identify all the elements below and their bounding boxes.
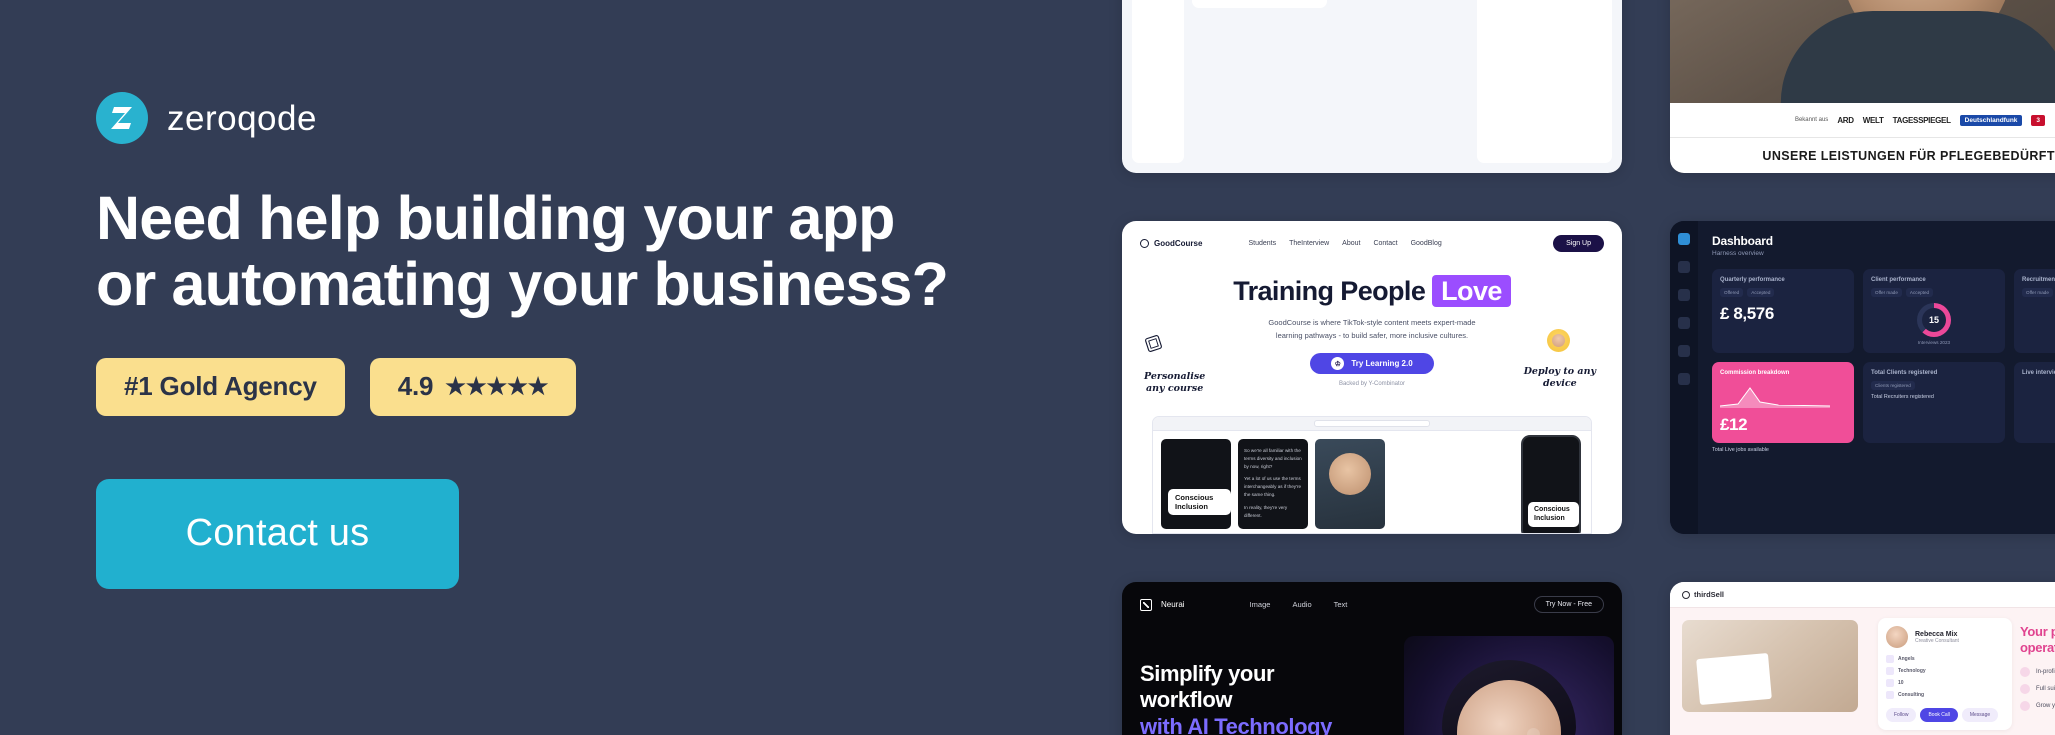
nav-link-contact[interactable]: Contact xyxy=(1373,240,1397,247)
feature-item: Grow your pers xyxy=(2020,701,2055,711)
crypto-latest-transactions-panel: Latest transactions xyxy=(1192,0,1327,8)
thirdsell-headline-line-2: operating sy xyxy=(2020,640,2055,656)
profile-header: Rebecca Mix Creative Consultant xyxy=(1886,626,2004,648)
tile-chip: Offer made xyxy=(2022,288,2053,297)
thirdsell-profile-card: Rebecca Mix Creative Consultant Angels T… xyxy=(1878,618,2012,730)
profile-rows: Angels Technology 10 Consulting xyxy=(1886,655,2004,699)
tile-chip: Clients registered xyxy=(1871,381,1915,390)
tile-value: £ 8,576 xyxy=(1720,304,1846,324)
portfolio-card-thirdsell[interactable]: thirdSell 1,183 users currently viewing … xyxy=(1670,582,2055,735)
profile-row-label: 10 xyxy=(1898,680,1904,686)
book-call-button[interactable]: Book Call xyxy=(1920,708,1957,722)
thirdsell-main: Rebecca Mix Creative Consultant Angels T… xyxy=(1670,608,2055,735)
feature-label: Grow your pers xyxy=(2036,703,2055,709)
thirdsell-ring-icon xyxy=(1682,591,1690,599)
check-icon xyxy=(2020,684,2030,694)
press-logo-strip: Bekannt aus ARD WELT TAGESSPIEGEL Deutsc… xyxy=(1670,103,2055,137)
dashboard-nav-rail xyxy=(1670,221,1698,534)
press-logo-tagesspiegel: TAGESSPIEGEL xyxy=(1893,116,1951,125)
crown-icon: ♔ xyxy=(1331,357,1344,370)
course-slide-label: Conscious Inclusion xyxy=(1168,489,1231,515)
neurai-navbar: Neurai Image Audio Text Try Now - Free xyxy=(1140,596,1604,613)
thirdsell-feature-list: In-profile cor Full suite prof Grow your… xyxy=(2020,667,2055,711)
badge-gold-agency: #1 Gold Agency xyxy=(96,358,345,416)
crypto-sidebar: Glossary Tools Swap More xyxy=(1132,0,1184,163)
thirdsell-brand-label: thirdSell xyxy=(1694,590,1724,599)
goodcourse-headline-highlight: Love xyxy=(1432,275,1511,307)
tile-label: Live interviews xyxy=(2022,370,2055,376)
headline-line-2: or automating your business? xyxy=(96,252,1096,318)
care-services-headline: UNSERE LEISTUNGEN FÜR PFLEGEBEDÜRFTIGE xyxy=(1670,137,2055,173)
goodcourse-headline: Training People Love xyxy=(1140,276,1604,307)
dashboard-subtitle: Harness overview xyxy=(1712,250,2055,257)
thirdsell-copy-column: Your person operating sy In-profile cor … xyxy=(2020,608,2055,735)
dashboard-footer-caption: Total Live jobs available xyxy=(1712,447,2055,453)
goodcourse-ring-icon xyxy=(1140,239,1149,248)
rating-stars-icon: ★★★★★ xyxy=(445,375,548,398)
tile-label: Quarterly performance xyxy=(1720,277,1846,283)
crypto-news-panel: Top crypto news The Crypto Top 5 Chart D… xyxy=(1477,0,1612,163)
profile-row: Angels xyxy=(1886,655,2004,663)
headline-line-1: Need help building your app xyxy=(96,184,895,252)
profile-role: Creative Consultant xyxy=(1915,638,1959,644)
transactions-illustration xyxy=(1200,0,1319,1)
goodcourse-note-personalise: Personaliseany course xyxy=(1144,371,1205,395)
slide-text-line: In reality, they're very different. xyxy=(1244,504,1302,520)
nav-link-goodblog[interactable]: GoodBlog xyxy=(1411,240,1442,247)
care-hero-photo xyxy=(1670,0,2055,103)
portfolio-card-recruitment-dashboard[interactable]: Dashboard Harness overview Quarterly per… xyxy=(1670,221,2055,534)
press-logo-ard: ARD xyxy=(1837,116,1853,125)
profile-row-label: Angels xyxy=(1898,656,1915,662)
goodcourse-nav-links: Students TheInterview About Contact Good… xyxy=(1248,240,1441,247)
nav-link-audio[interactable]: Audio xyxy=(1292,600,1311,609)
rating-value: 4.9 xyxy=(398,371,434,402)
thirdsell-headline: Your person operating sy xyxy=(2020,624,2055,657)
neurai-logo-icon xyxy=(1140,599,1152,611)
goodcourse-note-deploy: Deploy to anydevice xyxy=(1524,366,1596,390)
goodcourse-signup-button[interactable]: Sign Up xyxy=(1553,235,1604,252)
nav-link-theinterview[interactable]: TheInterview xyxy=(1289,240,1329,247)
tile-chip: Offered xyxy=(1720,288,1743,297)
badge-gold-agency-label: #1 Gold Agency xyxy=(124,371,317,402)
tile-caption: Total Recruiters registered xyxy=(1871,394,1997,400)
goodcourse-brand[interactable]: GoodCourse xyxy=(1140,239,1202,248)
client-performance-gauge: 15 xyxy=(1917,303,1951,337)
check-icon xyxy=(2020,701,2030,711)
feature-label: In-profile cor xyxy=(2036,669,2055,675)
goodcourse-subtitle-line-2: learning pathways - to build safer, more… xyxy=(1140,329,1604,342)
dashboard-tile-grid: Quarterly performance Offered Accepted £… xyxy=(1712,269,2055,443)
gauge-caption: Interviews 2023 xyxy=(1871,340,1997,345)
crypto-main: Meta $0.47 BTC $0.34 ETH $0.12 Latest tr… xyxy=(1192,0,1612,163)
browser-url-bar[interactable] xyxy=(1314,420,1430,427)
neurai-brand-label: Neurai xyxy=(1161,600,1185,609)
brand-name: zeroqode xyxy=(167,101,317,136)
follow-button[interactable]: Follow xyxy=(1886,708,1916,722)
portfolio-grid: Glossary Tools Swap More Meta $0.47 BTC … xyxy=(1122,0,2055,735)
gauge-caption: Interview Stage xyxy=(2022,419,2055,424)
feature-item: Full suite prof xyxy=(2020,684,2055,694)
tile-label: Recruitment performance xyxy=(2022,277,2055,283)
page-title: Need help building your app or automatin… xyxy=(96,186,1096,318)
browser-toolbar xyxy=(1153,417,1591,431)
zeroqode-z-logo-icon xyxy=(96,92,148,144)
profile-row: Technology xyxy=(1886,667,2004,675)
nav-link-about[interactable]: About xyxy=(1342,240,1360,247)
goodcourse-headline-plain: Training People xyxy=(1233,276,1432,306)
tile-chip: Accepted xyxy=(1906,288,1933,297)
press-logo-welt: WELT xyxy=(1863,116,1884,125)
row-icon xyxy=(1886,679,1894,687)
press-logo-extra-icon: 3 xyxy=(2031,115,2045,126)
avatar xyxy=(1886,626,1908,648)
avatar-doodle-icon xyxy=(1547,329,1570,352)
portfolio-card-crypto-wallet[interactable]: Glossary Tools Swap More Meta $0.47 BTC … xyxy=(1122,0,1622,173)
row-icon xyxy=(1886,667,1894,675)
portfolio-card-care-germany[interactable]: Bekannt aus ARD WELT TAGESSPIEGEL Deutsc… xyxy=(1670,0,2055,173)
dashboard-tile-total-clients: Total Clients registered Clients registe… xyxy=(1863,362,2005,443)
tile-chip: Accepted xyxy=(1747,288,1774,297)
slide-text-line: So we're all familiar with the terms div… xyxy=(1244,447,1302,470)
press-prefix-label: Bekannt aus xyxy=(1795,117,1828,123)
goodcourse-brand-label: GoodCourse xyxy=(1154,239,1202,248)
goodcourse-cta-label: Try Learning 2.0 xyxy=(1351,359,1412,368)
artwork-slider-control[interactable] xyxy=(1527,728,1540,735)
tile-label: Total Clients registered xyxy=(1871,370,1997,376)
dashboard-title: Dashboard xyxy=(1712,234,2055,248)
calendar-icon[interactable] xyxy=(1678,373,1690,385)
contact-us-button[interactable]: Contact us xyxy=(96,479,459,589)
phone-slide-label: Conscious Inclusion xyxy=(1528,502,1579,527)
chart-icon[interactable] xyxy=(1678,345,1690,357)
feature-item: In-profile cor xyxy=(2020,667,2055,677)
badge-group: #1 Gold Agency 4.9 ★★★★★ xyxy=(96,358,1120,416)
hero-section: zeroqode Need help building your app or … xyxy=(0,0,1120,735)
profile-row-label: Technology xyxy=(1898,668,1926,674)
thirdsell-headline-line-1: Your person xyxy=(2020,624,2055,640)
slide-text-line: Yet a lot of us use the terms interchang… xyxy=(1244,475,1302,498)
row-icon xyxy=(1886,655,1894,663)
dashboard-tile-commission: Commission breakdown £12 xyxy=(1712,362,1854,443)
course-slide: Conscious Inclusion xyxy=(1161,439,1231,529)
neurai-hero-artwork xyxy=(1404,636,1614,735)
badge-rating: 4.9 ★★★★★ xyxy=(370,358,577,416)
thirdsell-navbar: thirdSell 1,183 users currently viewing … xyxy=(1670,582,2055,608)
press-logo-deutschlandfunk: Deutschlandfunk xyxy=(1960,115,2023,126)
target-icon[interactable] xyxy=(1678,261,1690,273)
goodcourse-browser-mockup: Conscious Inclusion So we're all familia… xyxy=(1152,416,1592,534)
neurai-try-now-button[interactable]: Try Now - Free xyxy=(1534,596,1604,613)
thirdsell-photo-column xyxy=(1670,608,1870,735)
thirdsell-profile-column: Rebecca Mix Creative Consultant Angels T… xyxy=(1870,608,2020,735)
tile-value: £12 xyxy=(1720,415,1846,435)
tile-chip: Offer made xyxy=(1871,288,1902,297)
nav-link-students[interactable]: Students xyxy=(1248,240,1276,247)
profile-row: 10 xyxy=(1886,679,2004,687)
portfolio-card-neurai[interactable]: Neurai Image Audio Text Try Now - Free S… xyxy=(1122,582,1622,735)
home-icon[interactable] xyxy=(1678,233,1690,245)
message-button[interactable]: Message xyxy=(1962,708,1998,722)
profile-row: Consulting xyxy=(1886,691,2004,699)
check-icon xyxy=(2020,667,2030,677)
dashboard-tile-recruitment: Recruitment performance Offer made Accep… xyxy=(2014,269,2055,353)
goodcourse-try-learning-button[interactable]: ♔ Try Learning 2.0 xyxy=(1310,353,1434,374)
goodcourse-subtitle: GoodCourse is where TikTok-style content… xyxy=(1140,316,1604,342)
tile-label: Client performance xyxy=(1871,277,1997,283)
users-icon[interactable] xyxy=(1678,317,1690,329)
nav-link-text[interactable]: Text xyxy=(1334,600,1348,609)
goodcourse-subtitle-line-1: GoodCourse is where TikTok-style content… xyxy=(1140,316,1604,329)
neurai-nav-links: Image Audio Text xyxy=(1250,600,1348,609)
goodcourse-navbar: GoodCourse Students TheInterview About C… xyxy=(1140,235,1604,252)
profile-name: Rebecca Mix xyxy=(1915,631,1959,638)
goodcourse-phone-mockup: Conscious Inclusion xyxy=(1521,435,1581,534)
thirdsell-brand[interactable]: thirdSell xyxy=(1682,590,1724,599)
row-icon xyxy=(1886,691,1894,699)
tile-value: 23 xyxy=(2022,304,2055,324)
nav-link-image[interactable]: Image xyxy=(1250,600,1271,609)
dashboard-tile-client: Client performance Offer made Accepted 1… xyxy=(1863,269,2005,353)
tile-label: Commission breakdown xyxy=(1720,370,1846,376)
tile-value: 15 xyxy=(1917,303,1951,337)
dashboard-tile-quarterly: Quarterly performance Offered Accepted £… xyxy=(1712,269,1854,353)
person-body xyxy=(1781,11,2055,103)
feature-label: Full suite prof xyxy=(2036,686,2055,692)
settings-icon[interactable] xyxy=(1678,289,1690,301)
brand-logo[interactable]: zeroqode xyxy=(96,92,1120,144)
course-slide-text: So we're all familiar with the terms div… xyxy=(1238,439,1308,529)
dashboard-tile-live-interviews: Live interviews 23 Interview Stage xyxy=(2014,362,2055,443)
commission-sparkline xyxy=(1720,382,1830,408)
profile-actions: Follow Book Call Message xyxy=(1886,708,2004,722)
profile-row-label: Consulting xyxy=(1898,692,1924,698)
course-presenter-video xyxy=(1315,439,1385,529)
dashboard-body: Dashboard Harness overview Quarterly per… xyxy=(1698,221,2055,534)
portfolio-card-goodcourse[interactable]: GoodCourse Students TheInterview About C… xyxy=(1122,221,1622,534)
thirdsell-desk-photo xyxy=(1682,620,1858,712)
